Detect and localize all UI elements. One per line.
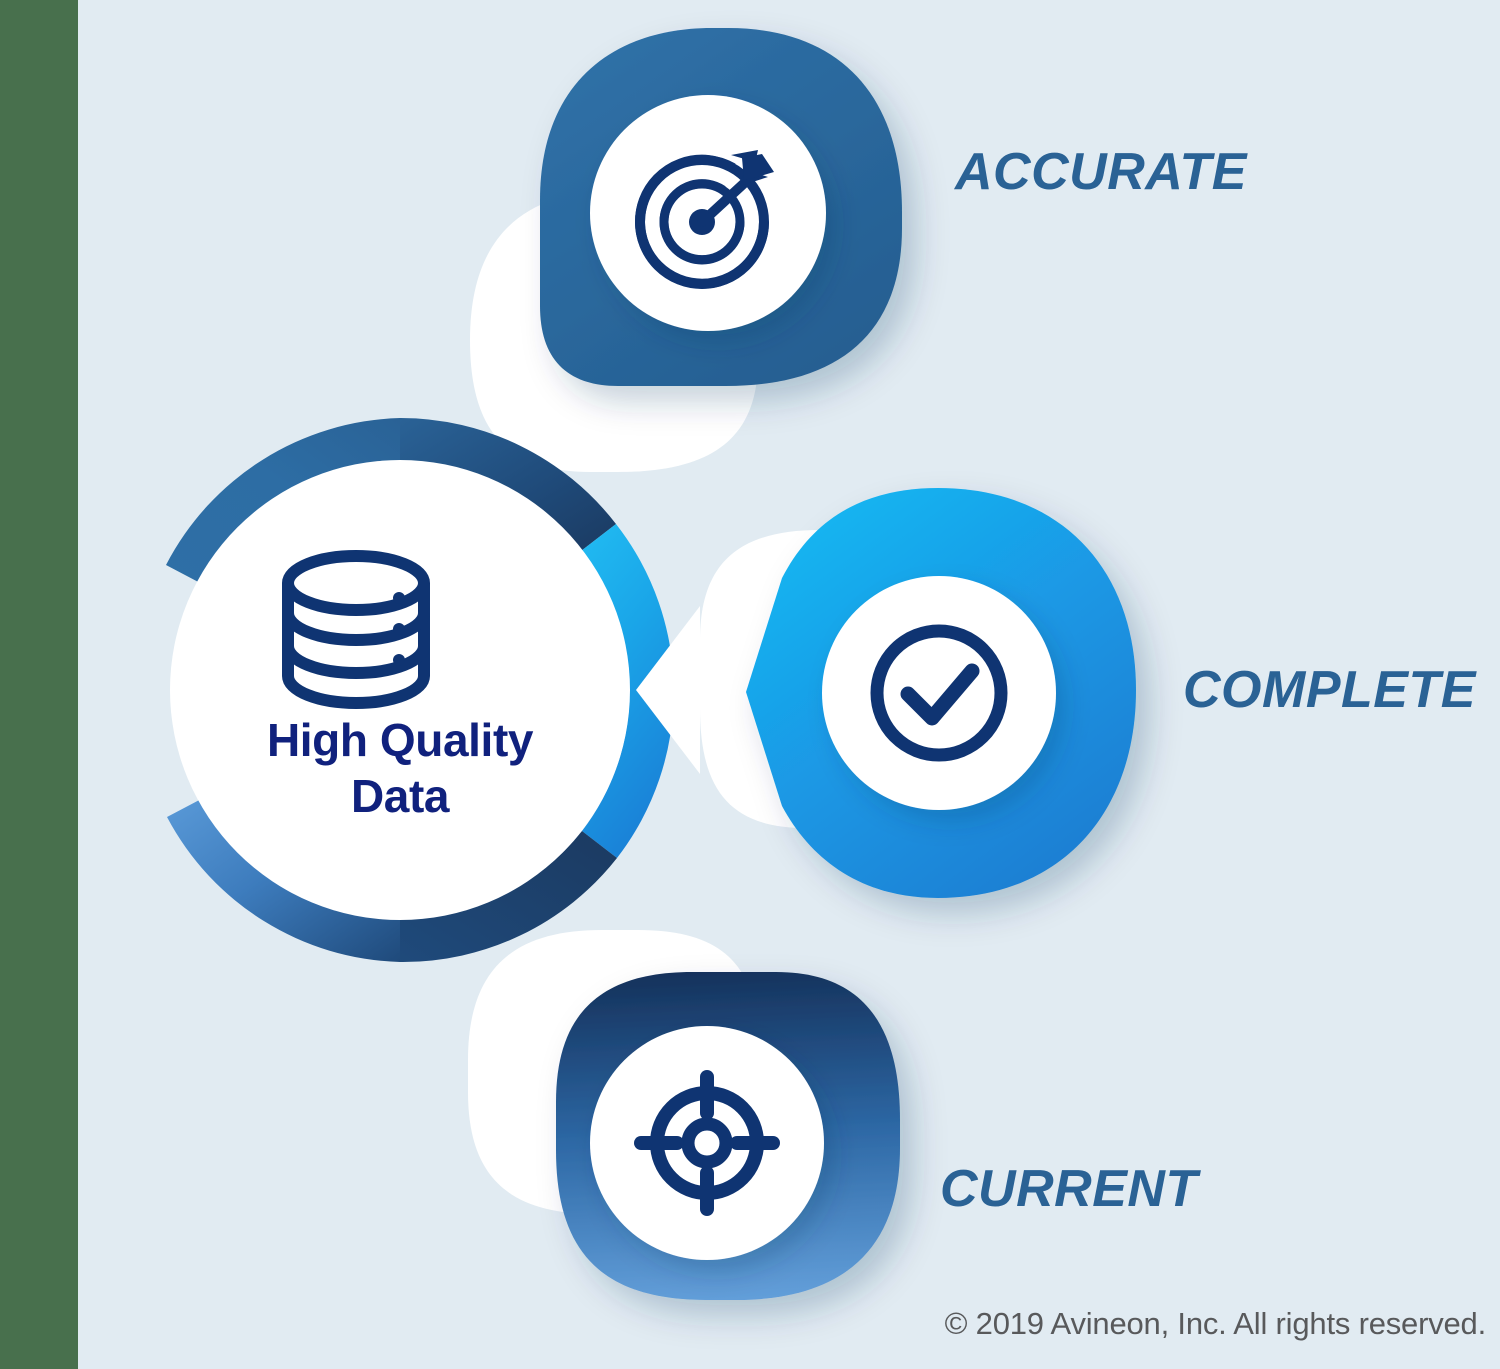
left-green-stripe — [0, 0, 78, 1369]
attribute-label-complete: COMPLETE — [1183, 664, 1476, 716]
center-label-line1: High Quality — [172, 712, 628, 768]
attribute-label-accurate: ACCURATE — [955, 146, 1247, 198]
attribute-label-current: CURRENT — [940, 1163, 1198, 1215]
center-label: High Quality Data — [172, 712, 628, 824]
left-tick-mark — [0, 484, 14, 487]
copyright-notice: © 2019 Avineon, Inc. All rights reserved… — [945, 1306, 1486, 1342]
center-label-line2: Data — [172, 768, 628, 824]
infographic-canvas: High Quality Data ACCURATE COMPLETE CURR… — [0, 0, 1500, 1369]
